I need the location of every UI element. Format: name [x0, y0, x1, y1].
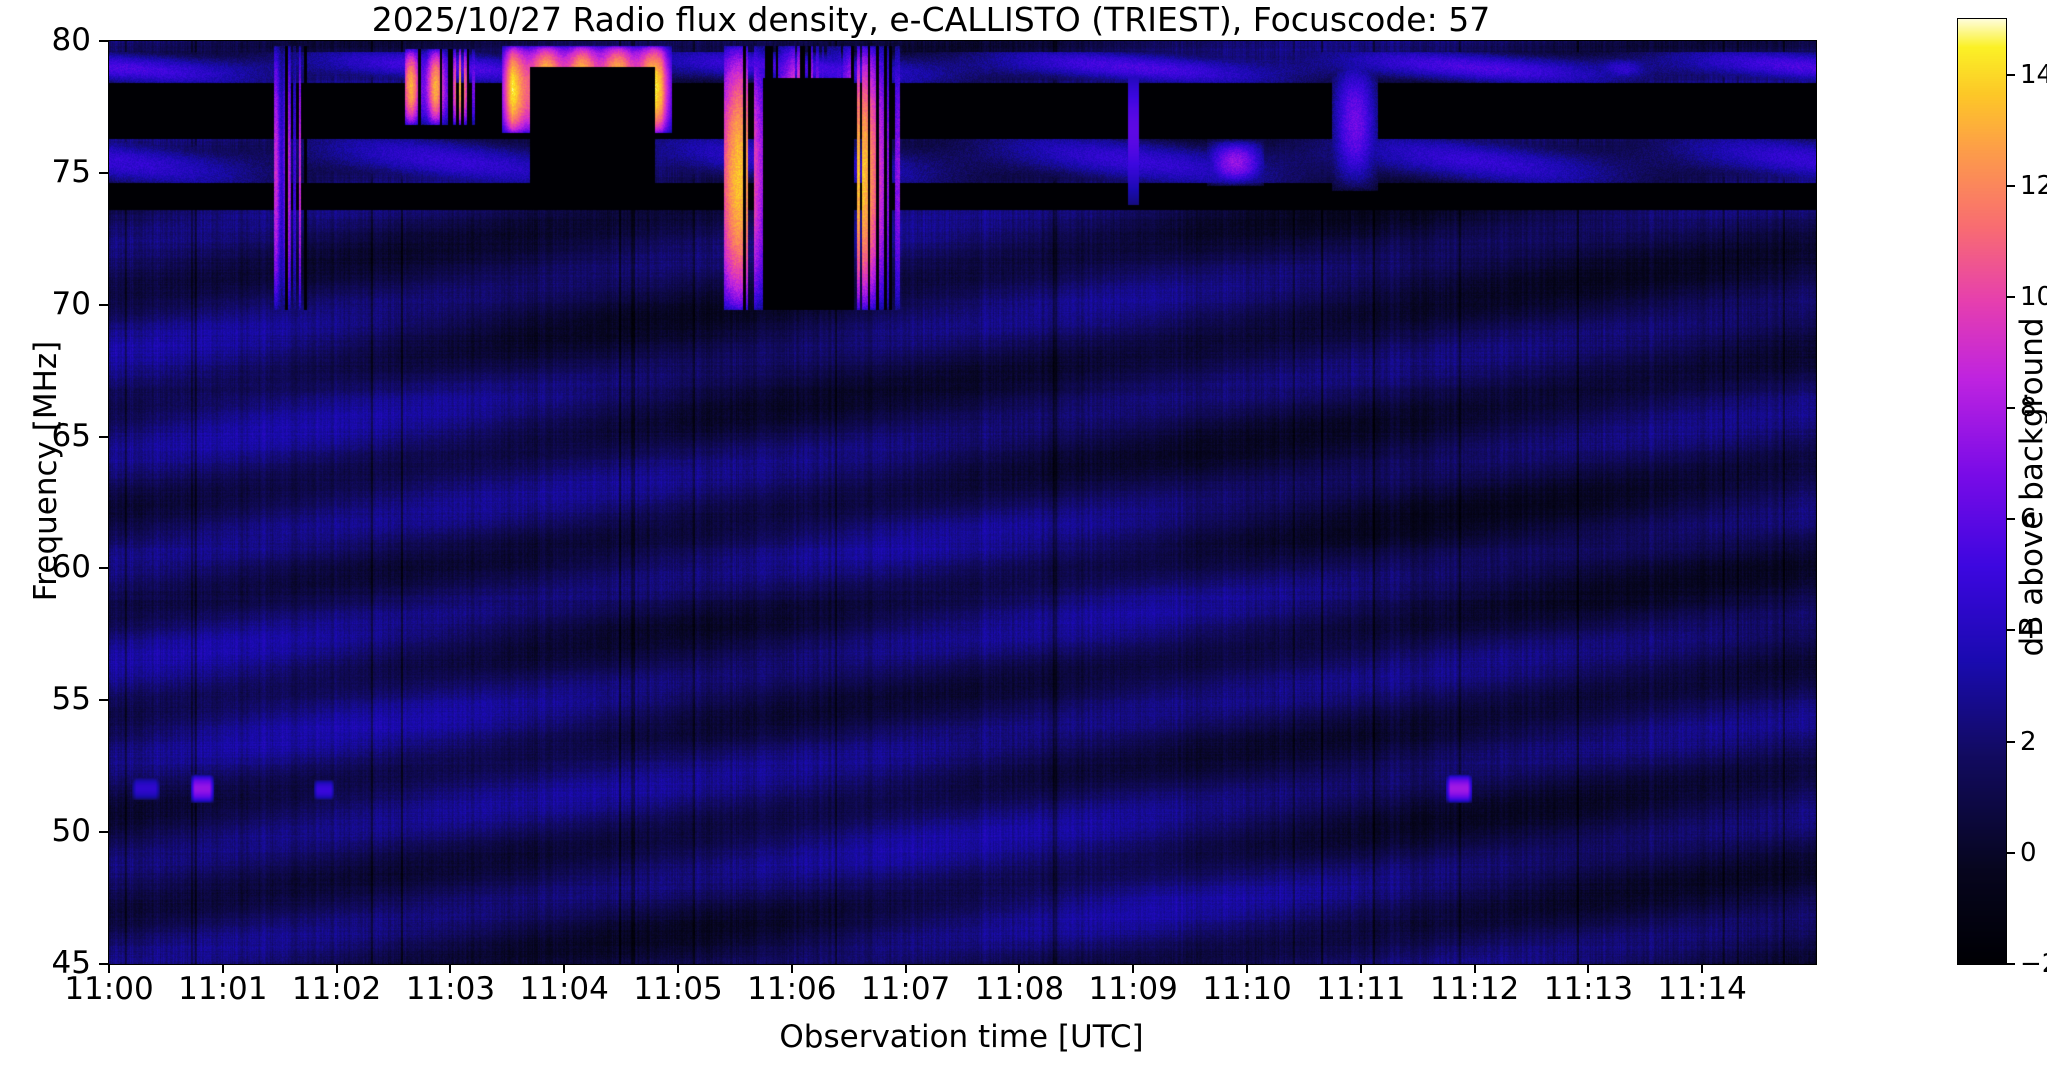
colorbar-tick-label: 6	[2020, 506, 2047, 532]
y-tick-mark	[99, 304, 108, 306]
colorbar-label: dB above background	[2015, 167, 2047, 807]
y-tick-mark	[99, 567, 108, 569]
y-tick-label: 70	[21, 289, 91, 320]
y-tick-mark	[99, 40, 108, 42]
colorbar-tick-label: 12	[2020, 173, 2047, 199]
y-tick-label: 80	[21, 25, 91, 56]
y-tick-mark	[99, 172, 108, 174]
spectrogram-figure: 2025/10/27 Radio flux density, e-CALLIST…	[0, 0, 2047, 1067]
colorbar-tick-mark	[2006, 963, 2015, 965]
colorbar-tick-mark	[2006, 74, 2015, 76]
page-title: 2025/10/27 Radio flux density, e-CALLIST…	[0, 2, 1862, 38]
x-axis-label: Observation time [UTC]	[108, 1020, 1815, 1054]
colorbar-tick-label: 4	[2020, 617, 2047, 643]
colorbar-tick-label: −2	[2020, 951, 2047, 977]
colorbar-tick-label: 8	[2020, 395, 2047, 421]
y-tick-label: 50	[21, 816, 91, 847]
colorbar-tick-mark	[2006, 296, 2015, 298]
y-tick-label: 55	[21, 684, 91, 715]
colorbar	[1957, 18, 2007, 965]
colorbar-tick-label: 14	[2020, 62, 2047, 88]
colorbar-tick-mark	[2006, 518, 2015, 520]
y-tick-mark	[99, 699, 108, 701]
x-tick-label: 11:14	[1612, 974, 1792, 1005]
colorbar-tick-mark	[2006, 741, 2015, 743]
y-tick-mark	[99, 436, 108, 438]
colorbar-tick-label: 2	[2020, 729, 2047, 755]
colorbar-tick-mark	[2006, 185, 2015, 187]
spectrogram-plot-area[interactable]	[108, 40, 1817, 965]
y-tick-label: 75	[21, 157, 91, 188]
colorbar-tick-mark	[2006, 852, 2015, 854]
y-tick-label: 60	[21, 552, 91, 583]
colorbar-tick-label: 10	[2020, 284, 2047, 310]
y-tick-label: 65	[21, 421, 91, 452]
y-tick-mark	[99, 831, 108, 833]
colorbar-gradient	[1958, 19, 2006, 964]
y-tick-mark	[99, 963, 108, 965]
spectrogram-image	[109, 41, 1816, 964]
colorbar-tick-mark	[2006, 407, 2015, 409]
colorbar-tick-mark	[2006, 629, 2015, 631]
colorbar-tick-label: 0	[2020, 840, 2047, 866]
